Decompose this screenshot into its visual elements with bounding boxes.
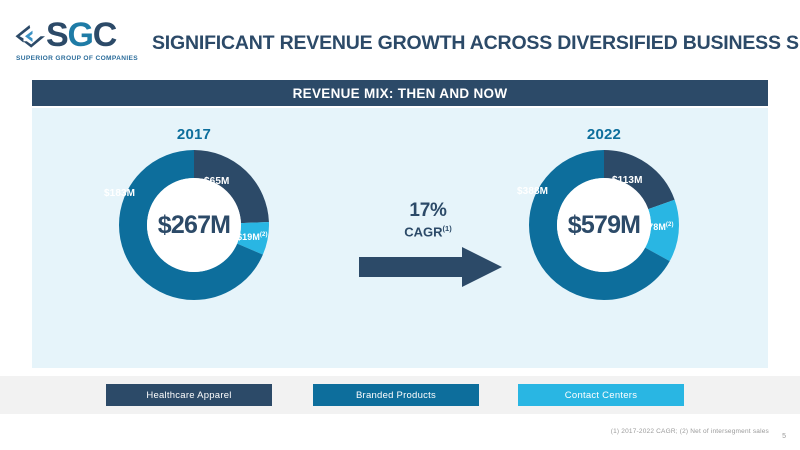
- donut-hole-2017: [147, 178, 241, 272]
- page-title: SIGNIFICANT REVENUE GROWTH ACROSS DIVERS…: [152, 30, 792, 56]
- sgc-logo: SGC SUPERIOR GROUP OF COMPANIES: [14, 22, 142, 68]
- donut-chart-2017: 2017 $267M $65M: [84, 108, 304, 368]
- section-banner: REVENUE MIX: THEN AND NOW: [32, 80, 768, 106]
- right-arrow-icon: [359, 246, 504, 288]
- donut-label-branded-2022: $388M: [517, 186, 548, 197]
- donut-label-contact-marker-2017: (2): [260, 232, 268, 238]
- slide-header: SGC SUPERIOR GROUP OF COMPANIES SIGNIFIC…: [0, 0, 800, 78]
- page-number: 5: [782, 433, 786, 440]
- donut-label-branded-text-2022: $388M: [517, 186, 548, 197]
- donut-year-label-2022: 2022: [494, 126, 714, 143]
- donut-year-label-2017: 2017: [84, 126, 304, 143]
- cagr-label-text: CAGR: [404, 224, 442, 239]
- wordmark-c: C: [93, 16, 116, 54]
- donut-label-contact-2022: $78M(2): [643, 222, 674, 232]
- legend-chip-branded-products-label: Branded Products: [356, 390, 436, 401]
- legend-chip-healthcare-apparel-label: Healthcare Apparel: [146, 390, 231, 401]
- donut-label-branded-text-2017: $183M: [104, 188, 135, 199]
- donut-graphic-2017: $267M $65M $183M $19M(2): [119, 150, 269, 300]
- donut-chart-2022: 2022 $579M $113M $388M: [494, 108, 714, 368]
- legend-chip-contact-centers-label: Contact Centers: [565, 390, 637, 401]
- footnote: (1) 2017-2022 CAGR; (2) Net of intersegm…: [611, 428, 769, 435]
- donut-label-contact-text-2017: $19M: [237, 232, 260, 242]
- legend-band: Healthcare Apparel Branded Products Cont…: [0, 376, 800, 414]
- cagr-label: CAGR(1): [362, 224, 494, 239]
- donut-label-contact-text-2022: $78M: [643, 222, 666, 232]
- cagr-callout: 17% CAGR(1): [362, 200, 512, 300]
- legend-chip-contact-centers[interactable]: Contact Centers: [518, 384, 684, 406]
- slide: SGC SUPERIOR GROUP OF COMPANIES SIGNIFIC…: [0, 0, 800, 450]
- donut-label-healthcare-2017: $65M: [204, 176, 229, 187]
- cagr-footnote-marker: (1): [443, 224, 452, 233]
- revenue-mix-panel: 2017 $267M $65M: [32, 108, 768, 368]
- donut-label-contact-marker-2022: (2): [666, 222, 674, 228]
- donut-label-healthcare-text-2017: $65M: [204, 176, 229, 187]
- donut-hole-2022: [557, 178, 651, 272]
- logo-tagline: SUPERIOR GROUP OF COMPANIES: [16, 55, 138, 62]
- legend-chip-healthcare-apparel[interactable]: Healthcare Apparel: [106, 384, 272, 406]
- cagr-percent: 17%: [362, 200, 494, 222]
- sgc-wordmark: SGC: [46, 18, 116, 52]
- donut-label-healthcare-2022: $113M: [612, 175, 643, 186]
- donut-graphic-2022: $579M $113M $388M $78M(2): [529, 150, 679, 300]
- wordmark-g: G: [67, 16, 92, 54]
- donut-label-branded-2017: $183M: [104, 188, 135, 199]
- donut-label-contact-2017: $19M(2): [237, 232, 268, 242]
- section-banner-label: REVENUE MIX: THEN AND NOW: [293, 86, 508, 101]
- sgc-chevron-logo-icon: [14, 24, 48, 52]
- donut-label-healthcare-text-2022: $113M: [612, 175, 643, 186]
- legend-chip-branded-products[interactable]: Branded Products: [313, 384, 479, 406]
- wordmark-s: S: [46, 16, 67, 54]
